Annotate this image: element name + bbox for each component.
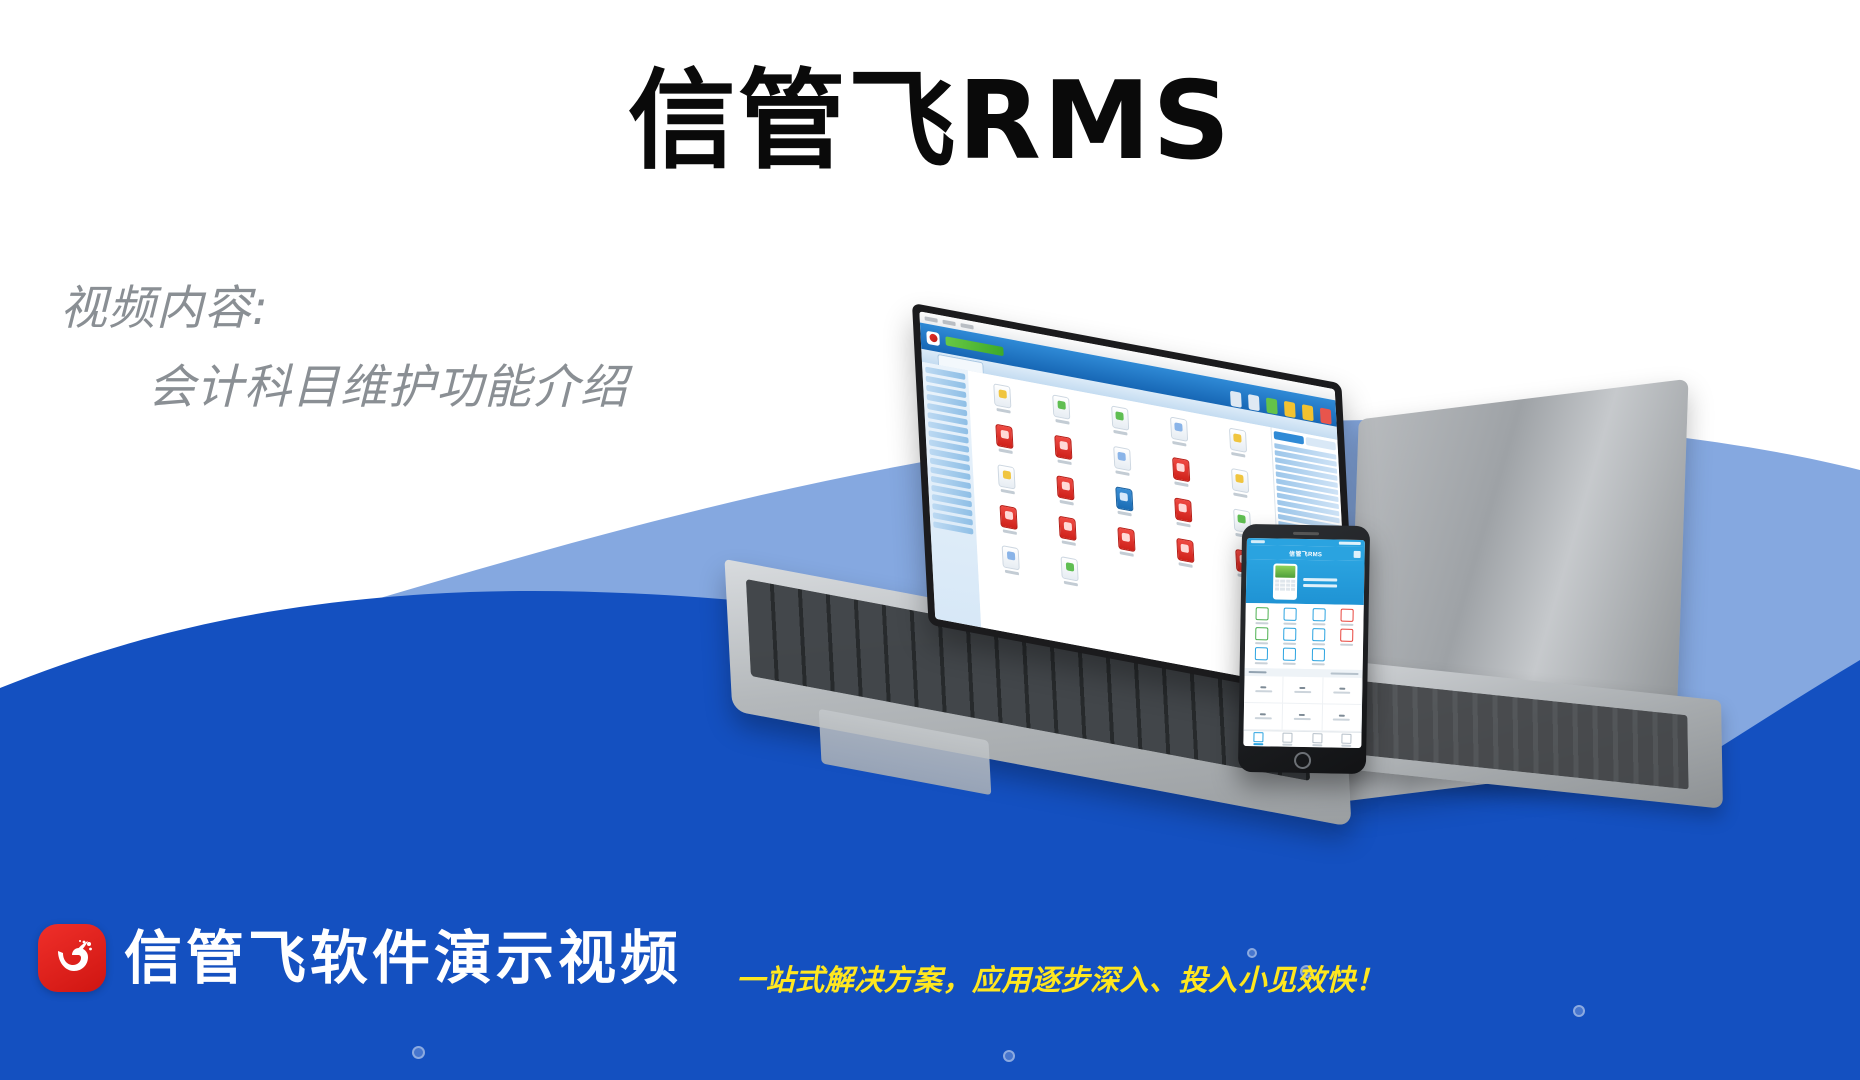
phone-hero-banner	[1246, 559, 1365, 605]
section-title	[1249, 671, 1267, 674]
nav-business-icon[interactable]	[1273, 731, 1303, 747]
phone-bottom-nav	[1243, 730, 1361, 748]
phone-grid-item[interactable]	[1305, 608, 1332, 625]
smartphone-device: 信管飞RMS	[1238, 524, 1370, 774]
status-indicators	[1339, 542, 1361, 545]
toolbar-icon	[1248, 394, 1260, 411]
phone-earpiece	[1293, 532, 1319, 535]
nav-report-icon[interactable]	[1302, 732, 1332, 748]
brand-name-text: 信管飞软件演示视频	[124, 929, 682, 987]
app-grid-icon	[983, 542, 1041, 590]
phone-app-title: 信管飞RMS	[1289, 548, 1322, 558]
section-filters	[1331, 672, 1359, 675]
phone-grid-item[interactable]	[1334, 629, 1361, 646]
toolbar-icon	[1320, 408, 1332, 425]
subtitle-topic: 会计科目维护功能介绍	[148, 364, 628, 411]
status-time	[1251, 540, 1265, 543]
phone-stat-cell	[1323, 677, 1363, 705]
app-logo-icon	[926, 330, 940, 346]
menu-item-placeholder	[960, 323, 973, 329]
phone-stat-cell	[1244, 703, 1284, 731]
phone-grid-item[interactable]	[1277, 628, 1304, 645]
flying-bird-logo-icon	[38, 924, 106, 992]
devices-illustration: 信管飞RMS	[860, 380, 1860, 940]
nav-profile-icon[interactable]	[1332, 733, 1362, 749]
phone-grid-item[interactable]	[1305, 648, 1332, 665]
right-panel-tab	[1274, 431, 1304, 445]
hero-caption	[1303, 577, 1337, 587]
app-grid-icon	[1039, 512, 1097, 560]
page-title: 信管飞RMS	[0, 60, 1860, 184]
menu-item-placeholder	[942, 319, 955, 325]
phone-grid-item[interactable]	[1248, 627, 1275, 644]
phone-function-grid	[1245, 603, 1364, 670]
phone-menu-icon[interactable]	[1354, 550, 1361, 557]
phone-grid-item[interactable]	[1276, 648, 1303, 665]
app-grid-icon	[1094, 442, 1152, 490]
phone-grid-item[interactable]	[1277, 608, 1304, 625]
phone-stat-cell	[1283, 704, 1323, 732]
toolbar-icon	[1302, 404, 1314, 421]
app-title-badge	[945, 336, 1003, 356]
toolbar-icon	[1284, 401, 1296, 418]
subtitle-label: 视频内容:	[60, 285, 628, 332]
app-grid-icon	[1157, 534, 1215, 582]
phone-app-header: 信管飞RMS	[1247, 545, 1365, 561]
app-grid-icon	[1098, 523, 1156, 571]
right-panel-tab	[1306, 437, 1336, 451]
app-grid-icon	[1041, 553, 1099, 601]
brand-tagline: 一站式解决方案，应用逐步深入、投入小见效快！	[736, 957, 1385, 999]
toolbar-icon	[1266, 397, 1278, 414]
phone-stat-cell	[1244, 676, 1284, 704]
brand-lockup: 信管飞软件演示视频	[38, 924, 682, 992]
menu-item-placeholder	[925, 316, 938, 322]
presentation-slide: 信管飞RMS 视频内容: 会计科目维护功能介绍	[0, 0, 1860, 1080]
toolbar-icon	[1230, 391, 1242, 408]
phone-stat-cell	[1322, 704, 1362, 732]
nav-home-icon[interactable]	[1243, 731, 1273, 747]
phone-home-button[interactable]	[1293, 752, 1310, 769]
phone-grid-item[interactable]	[1248, 647, 1275, 664]
phone-grid-item[interactable]	[1305, 628, 1332, 645]
hero-phone-mockup-icon	[1273, 563, 1298, 599]
app-grid-icon	[1033, 391, 1091, 439]
phone-grid-item[interactable]	[1248, 607, 1275, 624]
phone-stats-grid	[1244, 676, 1363, 732]
phone-screen: 信管飞RMS	[1243, 538, 1365, 748]
subtitle-block: 视频内容: 会计科目维护功能介绍	[60, 285, 628, 411]
phone-stat-cell	[1283, 677, 1323, 705]
phone-grid-item[interactable]	[1334, 609, 1361, 626]
